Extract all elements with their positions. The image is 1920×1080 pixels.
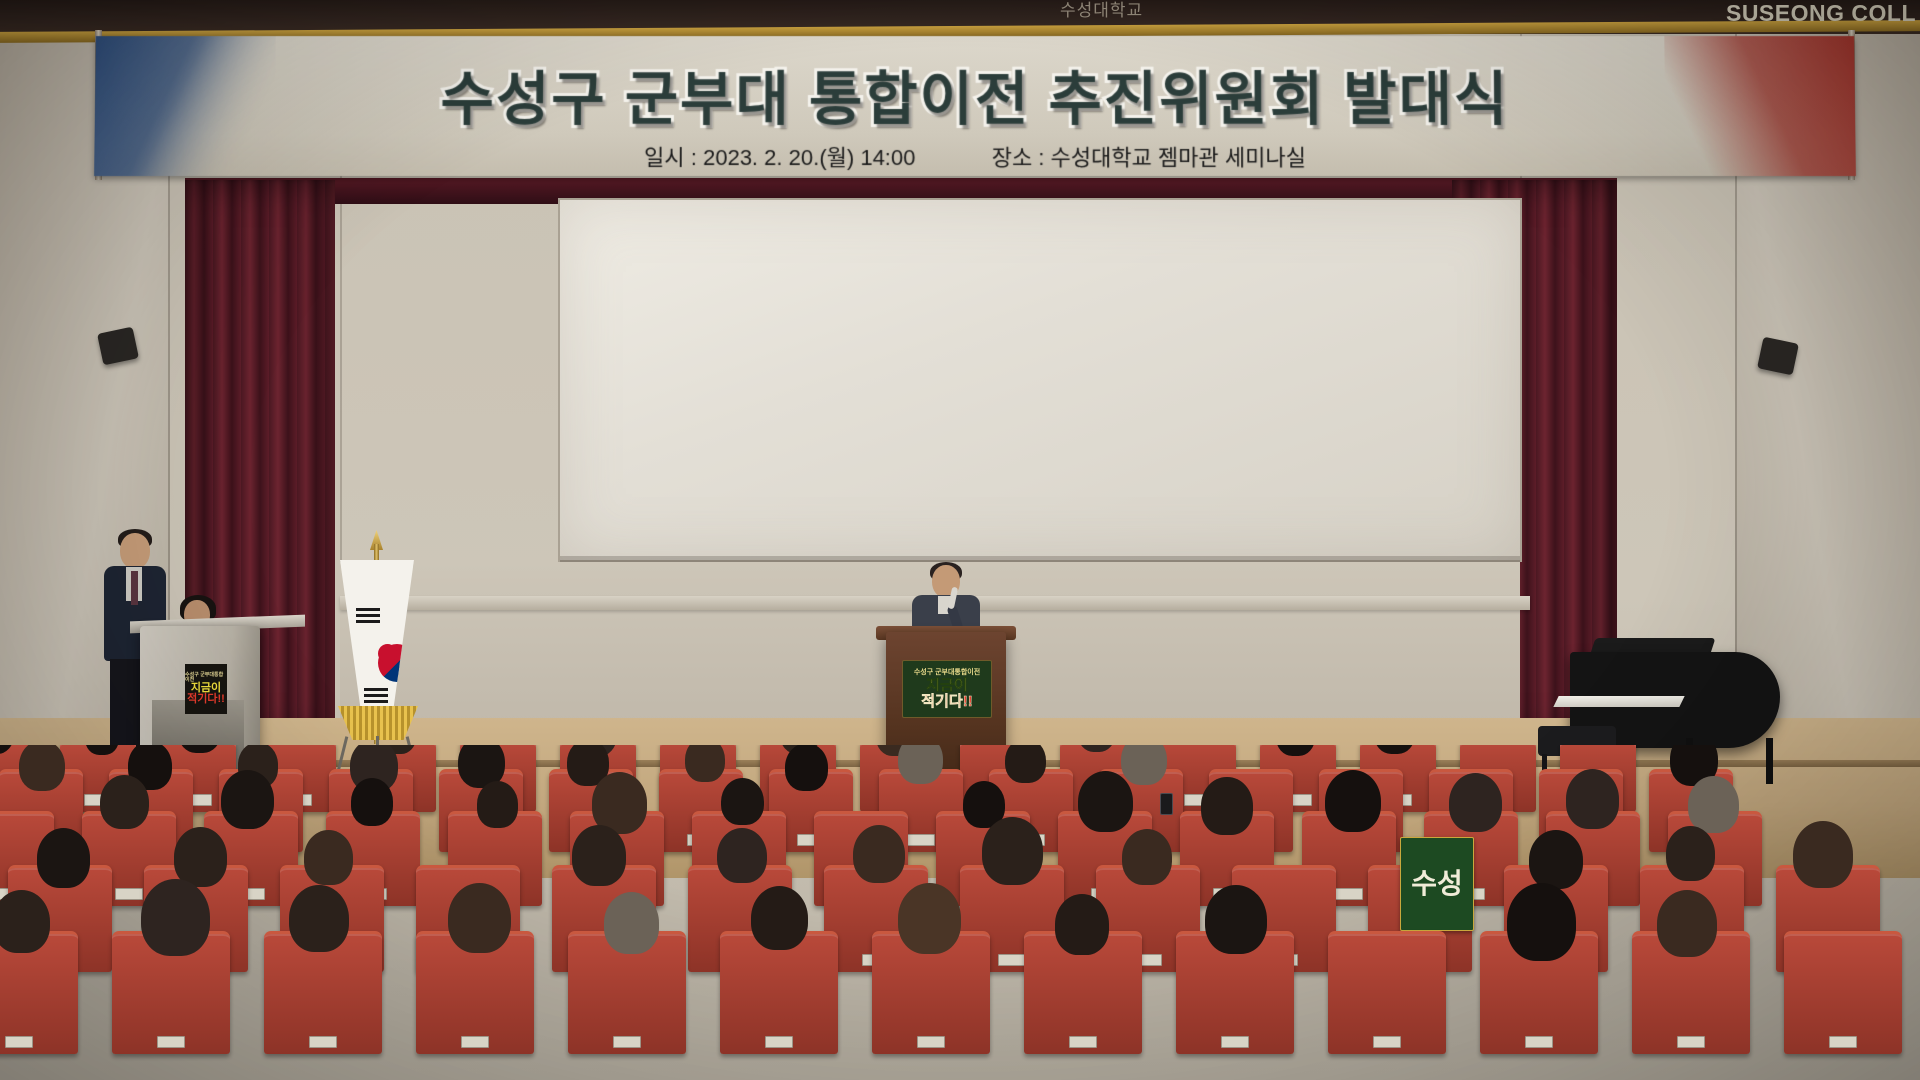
ceiling-venue-label-en: SUSEONG COLL [1726,0,1916,27]
banner-title: 수성구 군부대 통합이전 추진위원회 발대식 [95,52,1856,136]
audience-phone [1160,793,1173,815]
audience-member-head [1205,885,1267,954]
audience-member-head [1657,890,1717,958]
audience-placard: 수성 [1400,837,1474,931]
seat-number-plate [907,834,935,846]
audience-member-head [751,886,808,950]
auditorium-seat [1328,931,1446,1054]
seat-number-plate [998,954,1026,966]
audience-member-head [37,828,90,888]
audience-member-head [1005,745,1046,783]
official-head [120,533,150,569]
audience-member-head [1666,826,1716,882]
audience-member-head [1688,776,1739,833]
audience-member-head [141,879,209,956]
seat-number-plate [1069,1036,1097,1048]
official-tie [131,571,138,605]
ceiling-venue-label-ko: 수성대학교 [1060,0,1143,21]
seat-number-plate [1525,1036,1553,1048]
audience-member-head [572,825,626,886]
event-banner: 수성구 군부대 통합이전 추진위원회 발대식 일시 : 2023. 2. 20.… [94,36,1856,176]
audience-member-head [174,827,228,887]
flag-fringe [338,706,418,740]
audience-member-head [1055,894,1109,955]
audience-member-head [898,883,961,954]
audience-member-head [1122,829,1172,885]
audience-member-head [898,745,943,784]
banner-datetime: 일시 : 2023. 2. 20.(월) 14:00 [644,145,915,170]
audience-member-head [1449,773,1502,832]
photo-scene: 수성대학교 SUSEONG COLL 수성구 군부대 통합이전 추진위원회 발대… [0,0,1920,1080]
seat-number-plate [309,1036,337,1048]
seat-number-plate [917,1036,945,1048]
audience-member-head [1566,769,1620,829]
audience-member-head [1078,771,1133,832]
audience-member-head [1121,745,1167,785]
banner-subtitle: 일시 : 2023. 2. 20.(월) 14:00 장소 : 수성대학교 젬마… [94,140,1856,172]
seat-number-plate [765,1036,793,1048]
seat-number-plate [613,1036,641,1048]
audience-member-head [19,745,65,791]
audience-member-head [448,883,511,954]
audience-member-head [289,885,349,952]
seat-number-plate [5,1036,33,1048]
auditorium-seat [1784,931,1902,1054]
audience-member-head [100,775,149,830]
audience-member-head [1507,883,1576,960]
left-sign-line3: 적기다!! [187,694,225,705]
audience-member-head [1201,777,1252,834]
seat-number-plate [1335,888,1363,900]
seat-number-plate [1221,1036,1249,1048]
piano-keys [1553,696,1684,707]
audience-member-head [785,745,828,791]
podium-slogan-sign: 수성구 군부대통합이전 지금이 적기다!! [902,660,992,718]
seat-number-plate [115,888,143,900]
audience-member-head [0,890,50,953]
flag-cloth [340,560,414,710]
audience-member-head [717,828,767,884]
audience-member-head [1325,770,1381,832]
banner-location: 장소 : 수성대학교 젬마관 세미나실 [992,145,1306,170]
audience-member-head [477,781,519,828]
audience-member-head [982,817,1042,885]
taegeuk-icon [378,644,416,682]
seat-number-plate [461,1036,489,1048]
seat-number-plate [1373,1036,1401,1048]
audience-member-head [604,892,659,954]
left-podium-slogan-sign: 수성구 군부대통합이전 지금이 적기다!! [185,664,227,714]
audience-member-head [304,830,353,885]
podium-sign-line2: 지금이 [926,678,967,693]
audience-member-head [685,745,726,782]
audience-area: 수성 [0,745,1920,1080]
seat-number-plate [1829,1036,1857,1048]
korean-flag [322,530,432,780]
audience-member-head [221,770,274,830]
audience-member-head [853,825,905,884]
podium-sign-line1: 수성구 군부대통합이전 [914,669,980,676]
audience-member-head [351,778,394,826]
audience-member-head [721,778,764,826]
seat-number-plate [1677,1036,1705,1048]
audience-member-head [1793,821,1853,888]
podium-sign-line3: 적기다!! [921,694,972,709]
projection-screen [560,200,1520,560]
audience-member-head [1529,830,1582,890]
seat-number-plate [157,1036,185,1048]
